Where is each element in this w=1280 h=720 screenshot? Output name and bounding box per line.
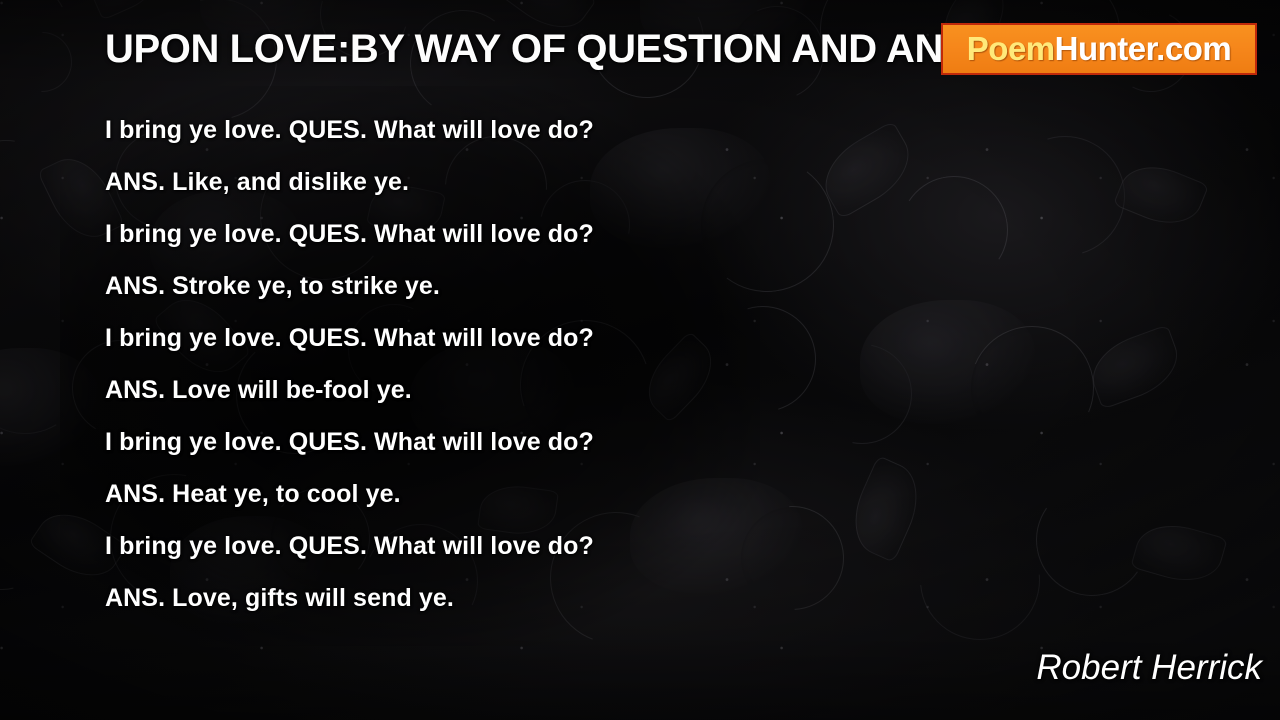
- poem-line: I bring ye love. QUES. What will love do…: [105, 520, 935, 572]
- poem-line: I bring ye love. QUES. What will love do…: [105, 312, 935, 364]
- poem-line: ANS. Heat ye, to cool ye.: [105, 468, 935, 520]
- poem-line: ANS. Like, and dislike ye.: [105, 156, 935, 208]
- watermark-brand-first: Poem: [967, 30, 1055, 67]
- watermark-brand-second: Hunter.com: [1055, 30, 1232, 67]
- poem-line: I bring ye love. QUES. What will love do…: [105, 416, 935, 468]
- poem-line: ANS. Stroke ye, to strike ye.: [105, 260, 935, 312]
- poem-title: UPON LOVE:BY WAY OF QUESTION AND ANSWER: [105, 27, 1061, 72]
- watermark-text: PoemHunter.com: [967, 32, 1231, 67]
- poem-line: ANS. Love, gifts will send ye.: [105, 572, 935, 624]
- poem-slide: UPON LOVE:BY WAY OF QUESTION AND ANSWER …: [0, 0, 1280, 720]
- poem-author: Robert Herrick: [1036, 648, 1262, 688]
- poem-line: I bring ye love. QUES. What will love do…: [105, 104, 935, 156]
- poemhunter-watermark-logo[interactable]: PoemHunter.com: [941, 23, 1257, 75]
- poem-body: I bring ye love. QUES. What will love do…: [105, 104, 935, 624]
- poem-line: I bring ye love. QUES. What will love do…: [105, 208, 935, 260]
- poem-line: ANS. Love will be-fool ye.: [105, 364, 935, 416]
- slide-content: UPON LOVE:BY WAY OF QUESTION AND ANSWER …: [0, 0, 1280, 720]
